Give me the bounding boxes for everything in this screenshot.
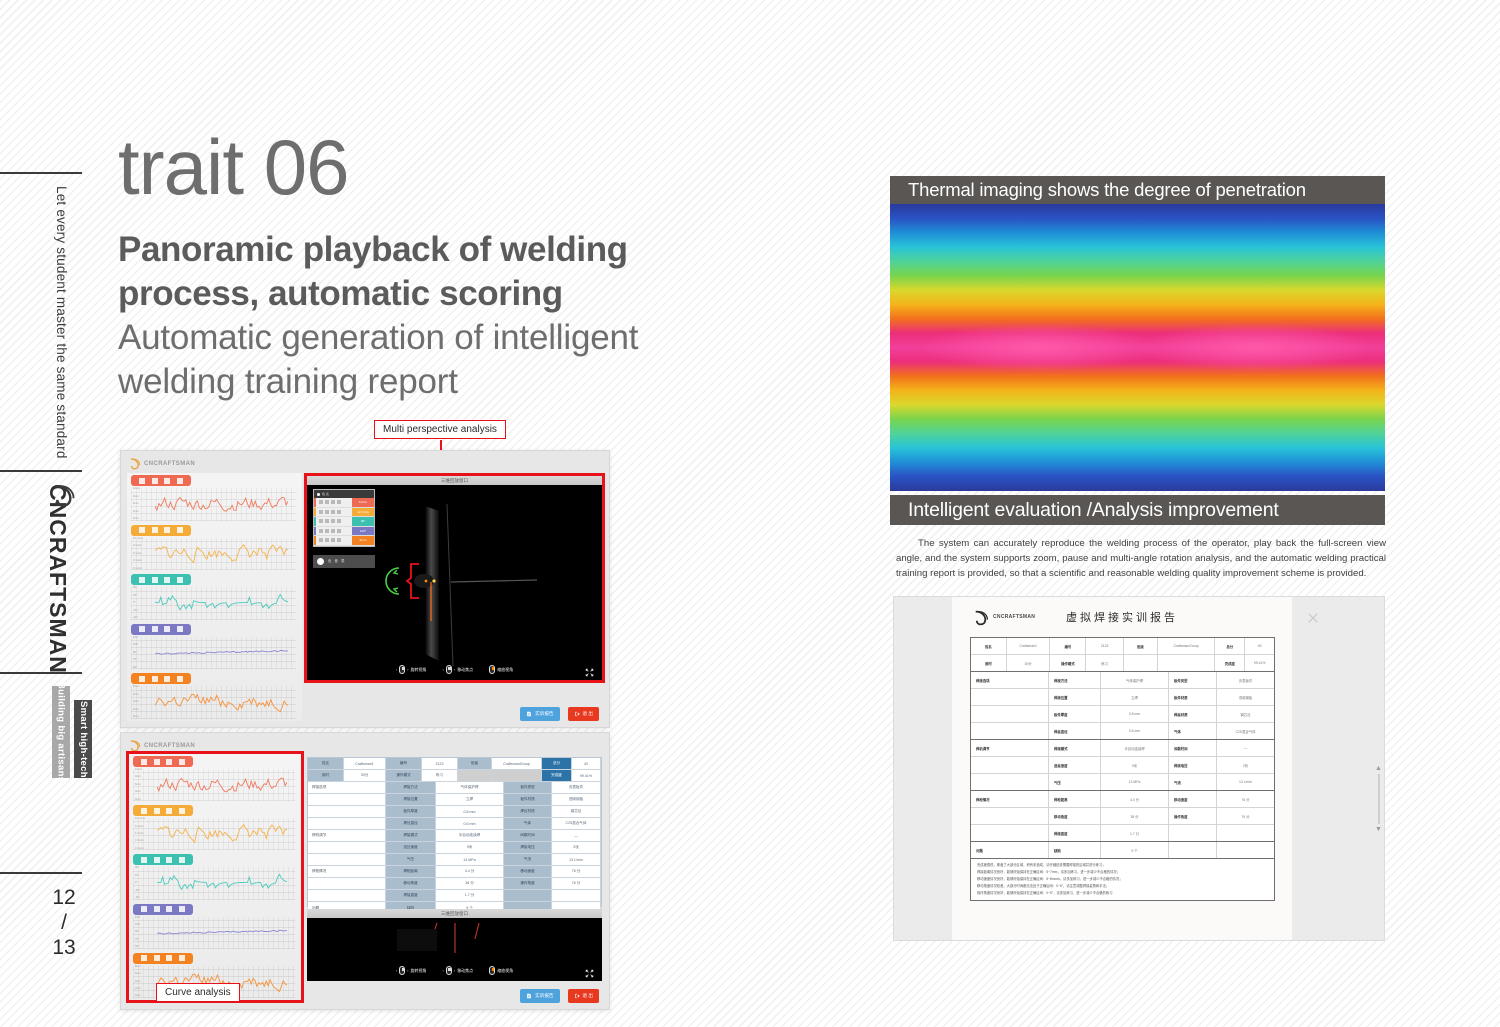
axis-tick-label: 15° <box>135 875 157 878</box>
thermal-section-title: Thermal imaging shows the degree of pene… <box>890 176 1385 204</box>
evaluation-section-title: Intelligent evaluation /Analysis improve… <box>890 495 1385 525</box>
report-cell: 焊接直度 <box>1049 825 1101 841</box>
table-header-cell: 班级 <box>458 758 492 769</box>
table-header-cell <box>504 890 552 901</box>
table-cell: 焊接选项 <box>308 782 386 793</box>
report-cell: 姓名 <box>971 638 1007 654</box>
tag-block-icon <box>152 527 158 533</box>
axis-tick-label: 3mm <box>133 511 155 514</box>
hint-right-arrow-icon: › <box>454 968 455 973</box>
tag-block-icon <box>166 906 172 912</box>
table-cell: 0.6 mm <box>436 818 504 829</box>
table-cell: Craftsman1 <box>344 758 386 769</box>
evaluation-paragraph: The system can accurately reproduce the … <box>896 537 1386 582</box>
axis-tick-label: 9 mm/s <box>133 545 155 548</box>
axis-tick-label: 75° <box>135 939 157 942</box>
exit-icon <box>574 711 580 717</box>
curve-line <box>155 538 288 569</box>
curve-panel-a[interactable]: 12mm9mm6mm3mm0mm12 mm/s9 mm/s6 mm/s3 mm/… <box>127 473 302 721</box>
tag-block-icon <box>141 857 147 863</box>
table-row: 焊枪情况焊枪距离4.4 分移动速度76 分 <box>308 866 601 878</box>
report-cell: 1.7 分 <box>1101 825 1169 841</box>
table-cell: 99.41% <box>572 770 601 781</box>
training-report-label: 实训报告 <box>535 711 553 717</box>
curve-group-tag <box>133 904 193 915</box>
table-header-cell: 板件厚度 <box>386 806 436 817</box>
report-row: 焊丝直径0.6 mm气体C25混合气体 <box>971 723 1274 740</box>
report-scrollbar[interactable]: ▲ ▼ <box>1375 765 1382 835</box>
mouse-icon <box>399 966 405 975</box>
curve-line <box>157 769 287 799</box>
report-cell: 40 <box>1245 638 1274 654</box>
brand-name: CNCRAFTSMAN <box>44 484 71 674</box>
curve-group-tag <box>131 525 191 536</box>
report-cell: 气流 <box>1169 774 1217 790</box>
table-row: 焊接选项焊接方法气体保护焊板件类型页表板件 <box>308 782 601 794</box>
axis-tick-label: 12 mm/s <box>135 818 157 821</box>
report-cell <box>971 689 1049 705</box>
table-cell <box>308 818 386 829</box>
report-cell: 2123 <box>1086 638 1124 654</box>
report-cell <box>1124 655 1158 671</box>
table-header-cell: 焊丝直径 <box>386 818 436 829</box>
axis-tick-label: 8mm <box>133 686 155 689</box>
curve-plot[interactable]: 30°15°0°-15°-30° <box>131 587 296 620</box>
tag-block-icon <box>141 955 147 961</box>
curve-group-tag <box>133 953 193 964</box>
axis-tick-label: 90° <box>133 652 155 655</box>
hint-right-arrow-icon: › <box>407 667 408 672</box>
tag-block-icon <box>152 577 158 583</box>
table-header-cell: 移动角度 <box>386 878 436 889</box>
report-cell: 焊接电压 <box>1169 757 1217 773</box>
viewer-hint: ‹›移动焦点 <box>443 665 474 674</box>
report-cell: 低碳钢板 <box>1217 689 1274 705</box>
tag-block-icon <box>164 676 170 682</box>
tag-block-icon <box>152 676 158 682</box>
exit-button[interactable]: 退 出 <box>568 707 599 721</box>
report-page: CNCRAFTSMAN 虚拟焊接实训报告 姓名Craftsman1编号2123班… <box>952 597 1292 941</box>
report-cell <box>1169 842 1217 858</box>
table-cell: C25混合气体 <box>552 818 601 829</box>
curve-axis-labels: 120°105°90°75°60° <box>133 637 155 670</box>
table-row: 焊机调节焊接模式半自动连续焊间歇时间— <box>308 830 601 842</box>
hint-label: 缩放视角 <box>497 968 513 974</box>
tag-block-icon <box>179 955 185 961</box>
tag-block-icon <box>154 808 160 814</box>
table-cell: 38 分 <box>436 878 504 889</box>
report-cell: 移动速度 <box>1169 791 1217 807</box>
report-cell: 完成度 <box>1215 655 1245 671</box>
report-cell: 问题 <box>971 842 1049 858</box>
curve-group[interactable]: 12mm9mm6mm3mm0mm <box>133 756 295 801</box>
curve-axis-labels: 120°105°90°75°60° <box>135 917 157 949</box>
tag-block-icon <box>164 478 170 484</box>
axis-tick-label: 2mm <box>135 988 157 991</box>
table-header-cell: 操作模式 <box>386 770 422 781</box>
report-notes: 完成度很低，覆盖了大部分区域，积有未造成，请仔细检查需要焊接的区域并进行练习；焊… <box>971 859 1274 900</box>
report-cell: 焊枪距离 <box>1049 791 1101 807</box>
table-cell: 0.8 mm <box>436 806 504 817</box>
table-cell: 气体保护焊 <box>436 782 504 793</box>
left-rail: Let every student master the same standa… <box>0 0 104 1027</box>
rail-divider-1 <box>0 172 82 174</box>
report-cell <box>1217 842 1274 858</box>
tag-block-icon <box>166 857 172 863</box>
tag-block-icon <box>164 577 170 583</box>
table-cell: 76 分 <box>552 866 601 877</box>
report-cell: 气体 <box>1169 723 1217 739</box>
hint-label: 移动焦点 <box>457 968 473 974</box>
table-row: 板件厚度0.8 mm焊丝材质钢芯丝 <box>308 806 601 818</box>
app-screenshot-playback[interactable]: CNCRAFTSMAN 12mm9mm6mm3mm0mm12 mm/s9 mm/… <box>120 450 610 728</box>
table-cell <box>308 842 386 853</box>
axis-tick-label: 12mm <box>135 769 157 772</box>
report-cell: 9米 <box>1101 757 1169 773</box>
report-cell: 编号 <box>1050 638 1086 654</box>
table-header-cell: 送丝速度 <box>386 842 436 853</box>
callout-curve-analysis: Curve analysis <box>156 983 240 1002</box>
report-cell <box>971 757 1049 773</box>
report-cell: 间歇时间 <box>1169 740 1217 756</box>
hint-left-arrow-icon: ‹ <box>396 968 397 973</box>
rail-divider-2 <box>0 470 82 472</box>
table-cell: 焊枪情况 <box>308 866 386 877</box>
report-cell: 0.6 mm <box>1101 723 1169 739</box>
curve-plot[interactable]: 12mm9mm6mm3mm0mm <box>131 488 296 521</box>
scroll-down-icon[interactable]: ▼ <box>1375 826 1382 833</box>
report-cell: 13 L/min <box>1217 774 1274 790</box>
curve-axis-labels: 8mm6mm4mm2mm0mm <box>135 966 157 998</box>
report-title: 虚拟焊接实训报告 <box>952 609 1292 625</box>
curve-plot[interactable]: 30°15°0°-15°-30° <box>133 867 295 899</box>
report-cell: 班级 <box>1124 638 1158 654</box>
curve-axis-labels: 30°15°0°-15°-30° <box>135 867 157 899</box>
axis-tick-label: 30° <box>133 587 155 590</box>
axis-tick-label: 9mm <box>135 776 157 779</box>
report-screenshot[interactable]: CNCRAFTSMAN 虚拟焊接实训报告 姓名Craftsman1编号2123班… <box>893 596 1385 941</box>
hint-label: 旋转视角 <box>411 968 427 974</box>
thermal-image <box>890 204 1385 491</box>
axis-tick-label: 6mm <box>133 503 155 506</box>
table-cell: 30分 <box>344 770 386 781</box>
hint-left-arrow-icon: ‹ <box>443 968 444 973</box>
table-header-cell: 间歇时间 <box>504 830 552 841</box>
scroll-track[interactable] <box>1378 774 1380 824</box>
report-row: 焊机调节焊接模式半自动连续焊间歇时间— <box>971 740 1274 757</box>
curve-group[interactable]: 12 mm/s9 mm/s6 mm/s3 mm/s0 mm/s <box>133 805 295 850</box>
fullscreen-icon-b[interactable] <box>585 965 594 974</box>
report-row: 送丝速度9米焊接电压2伏 <box>971 757 1274 774</box>
axis-tick-label: 2mm <box>133 709 155 712</box>
table-cell: 页表板件 <box>552 782 601 793</box>
app-logo-text-b: CNCRAFTSMAN <box>144 743 195 749</box>
scroll-up-icon[interactable]: ▲ <box>1375 765 1382 772</box>
tag-block-icon <box>164 527 170 533</box>
report-cell <box>971 825 1049 841</box>
report-row: 姓名Craftsman1编号2123班级CraftsmanGroup总分40 <box>971 638 1274 655</box>
table-row: 焊接直度1.7 分 <box>308 890 601 902</box>
curve-group[interactable]: 8mm6mm4mm2mm0mm <box>131 673 296 719</box>
table-cell <box>308 854 386 865</box>
training-report-label-b: 实训报告 <box>535 993 553 999</box>
axis-tick-label: 105° <box>135 924 157 927</box>
report-cell: 缺陷 <box>1049 842 1101 858</box>
axis-tick-label: 9 mm/s <box>135 826 157 829</box>
page-separator: / <box>44 911 84 936</box>
report-cell: 焊接方法 <box>1049 672 1101 688</box>
curve-group-tag <box>133 854 193 865</box>
axis-tick-label: 60° <box>135 946 157 949</box>
exit-button-b[interactable]: 退 出 <box>568 989 599 1003</box>
axis-tick-label: 0mm <box>135 799 157 802</box>
report-row: 焊接选项焊接方法气体保护焊板件类型页表板件 <box>971 672 1274 689</box>
axis-tick-label: 3 mm/s <box>135 840 157 843</box>
report-cell: 板件厚度 <box>1049 706 1101 722</box>
hint-left-arrow-icon: ‹ <box>443 667 444 672</box>
report-row: 问题缺陷9 个 <box>971 842 1274 859</box>
report-cell: — <box>1217 740 1274 756</box>
cncraftsman-logo-icon <box>50 482 76 508</box>
curve-plot[interactable]: 8mm6mm4mm2mm0mm <box>131 686 296 719</box>
table-cell <box>308 806 386 817</box>
rail-badges: Building big artisans Smart high-tech <box>52 686 92 783</box>
tag-block-icon <box>179 808 185 814</box>
axis-tick-label: 0° <box>135 882 157 885</box>
report-cell: 99.41% <box>1245 655 1274 671</box>
app-logo-text: CNCRAFTSMAN <box>144 461 195 467</box>
report-cell: 钢芯丝 <box>1217 706 1274 722</box>
report-cell: 2伏 <box>1217 757 1274 773</box>
axis-tick-label: 9mm <box>133 496 155 499</box>
table-cell: 13 MPa <box>436 854 504 865</box>
fullscreen-icon[interactable] <box>585 664 594 673</box>
curve-group[interactable]: 120°105°90°75°60° <box>131 624 296 670</box>
table-row: 焊丝直径0.6 mm气体C25混合气体 <box>308 818 601 830</box>
report-cell: 焊丝直径 <box>1049 723 1101 739</box>
tag-block-icon <box>166 808 172 814</box>
table-cell <box>458 770 492 781</box>
badge-smart-high-tech: Smart high-tech <box>74 700 92 778</box>
table-cell <box>552 890 601 901</box>
report-cell: 立焊 <box>1101 689 1169 705</box>
curve-group[interactable]: 120°105°90°75°60° <box>133 904 295 949</box>
table-cell <box>308 890 386 901</box>
viewer-3d-playback[interactable]: 三维回放窗口 色 表 12mm12 mm/s30°120°8mm 色 差 表 <box>307 476 602 680</box>
table-header-cell: 气压 <box>386 854 436 865</box>
curve-plot[interactable]: 120°105°90°75°60° <box>133 917 295 949</box>
report-row: 焊枪情况焊枪距离4.4 分移动速度76 分 <box>971 791 1274 808</box>
table-cell: 40 <box>572 758 601 769</box>
hint-right-arrow-icon: › <box>454 667 455 672</box>
report-cell: 板件类型 <box>1169 672 1217 688</box>
report-cell: 板件材质 <box>1169 689 1217 705</box>
table-header-cell: 焊接模式 <box>386 830 436 841</box>
table-row: 焊接位置立焊板件材质低碳钢板 <box>308 794 601 806</box>
axis-tick-label: 0 mm/s <box>133 568 155 571</box>
mouse-icon <box>446 966 452 975</box>
axis-tick-label: 30° <box>135 867 157 870</box>
curve-group[interactable]: 12 mm/s9 mm/s6 mm/s3 mm/s0 mm/s <box>131 525 296 571</box>
table-cell: 钢芯丝 <box>552 806 601 817</box>
report-note-line: 移动角度情况较差，大部分时间都无法处于正确区间：0~5°，请注意调整焊接姿势和手… <box>977 883 1268 890</box>
tag-block-icon <box>177 626 183 632</box>
table-cell: 焊机调节 <box>308 830 386 841</box>
report-cell: 总分 <box>1215 638 1245 654</box>
axis-tick-label: 105° <box>133 644 155 647</box>
table-header-cell: 板件材质 <box>504 794 552 805</box>
hint-label: 旋转视角 <box>411 667 427 673</box>
curve-line <box>155 587 288 618</box>
viewer-hint: 缩放视角 <box>489 665 513 674</box>
axis-tick-label: 6mm <box>135 973 157 976</box>
app-logo: CNCRAFTSMAN <box>128 457 195 470</box>
report-row: 气压13 MPa气流13 L/min <box>971 774 1274 791</box>
tag-block-icon <box>139 676 145 682</box>
table-header-cell: 气流 <box>504 854 552 865</box>
tag-block-icon <box>164 626 170 632</box>
close-icon[interactable] <box>1306 611 1320 625</box>
cncraftsman-mark-icon <box>128 457 141 470</box>
report-cell: 操作模式 <box>1050 655 1086 671</box>
rail-tagline: Let every student master the same standa… <box>54 186 69 459</box>
report-cell <box>1169 825 1217 841</box>
report-icon-b <box>526 993 532 999</box>
axis-tick-label: 90° <box>135 931 157 934</box>
tag-block-icon <box>154 857 160 863</box>
report-detail-table: 姓名Craftsman1编号2123班级CraftsmanGroup总分40用时… <box>970 637 1275 901</box>
axis-tick-label: 15° <box>133 595 155 598</box>
curve-group-tag <box>131 673 191 684</box>
curve-axis-labels: 30°15°0°-15°-30° <box>133 587 155 620</box>
curve-plot[interactable]: 12 mm/s9 mm/s6 mm/s3 mm/s0 mm/s <box>133 818 295 850</box>
table-cell: 13 L/min <box>552 854 601 865</box>
tag-block-icon <box>179 759 185 765</box>
curve-plot[interactable]: 120°105°90°75°60° <box>131 637 296 670</box>
axis-tick-label: 12 mm/s <box>133 538 155 541</box>
table-cell <box>308 794 386 805</box>
table-header-cell: 焊接电压 <box>504 842 552 853</box>
hint-label: 移动焦点 <box>457 667 473 673</box>
report-cell: 半自动连续焊 <box>1101 740 1169 756</box>
table-header-cell: 焊枪距离 <box>386 866 436 877</box>
report-cell: 焊接模式 <box>1049 740 1101 756</box>
report-cell: CraftsmanGroup <box>1158 638 1216 654</box>
curve-group-tag <box>131 574 191 585</box>
table-cell: 9米 <box>436 842 504 853</box>
axis-tick-label: -15° <box>133 610 155 613</box>
axis-tick-label: -30° <box>135 897 157 900</box>
report-cell: 焊接选项 <box>971 672 1049 688</box>
table-cell <box>492 770 542 781</box>
training-report-button[interactable]: 实训报告 <box>520 707 559 721</box>
curve-axis-labels: 8mm6mm4mm2mm0mm <box>133 686 155 719</box>
viewer-3d-strip[interactable]: 三维回放窗口 ‹›旋转视角‹›移动焦点缩放视角 <box>307 909 602 981</box>
axis-tick-label: -15° <box>135 890 157 893</box>
table-header-cell: 板件类型 <box>504 782 552 793</box>
report-cell <box>971 808 1049 824</box>
mouse-icon <box>489 665 495 674</box>
curve-group[interactable]: 30°15°0°-15°-30° <box>133 854 295 899</box>
table-cell: CraftsmanGroup <box>492 758 542 769</box>
curve-plot[interactable]: 12 mm/s9 mm/s6 mm/s3 mm/s0 mm/s <box>131 538 296 571</box>
report-note-line: 操作角度情况良好，能够好始保持在正确区间：0~5°，请多加练习，进一步减少不合格… <box>977 890 1268 897</box>
tag-block-icon <box>154 906 160 912</box>
report-cell <box>1217 825 1274 841</box>
report-note-line: 焊接距离情况良好，能够好始保持在正确区间：5~7mm，请多加练习，进一步减少不合… <box>977 869 1268 876</box>
report-row: 移动角度38 分操作角度76 分 <box>971 808 1274 825</box>
axis-tick-label: 8mm <box>135 966 157 969</box>
report-cell: 9 个 <box>1101 842 1169 858</box>
curve-group-tag <box>133 805 193 816</box>
curve-line <box>157 818 287 848</box>
table-header-cell: 气体 <box>504 818 552 829</box>
curve-group[interactable]: 30°15°0°-15°-30° <box>131 574 296 620</box>
tag-block-icon <box>166 955 172 961</box>
axis-tick-label: 120° <box>135 917 157 920</box>
axis-tick-label: 12mm <box>133 488 155 491</box>
report-note-line: 移动速度情况良好，能够好始保持在正确区间：5~8mm/s，请多加练习，进一步减少… <box>977 876 1268 883</box>
table-row: 气压13 MPa气流13 L/min <box>308 854 601 866</box>
axis-tick-label: 60° <box>133 667 155 670</box>
action-buttons-a: 实训报告 退 出 <box>520 707 599 721</box>
table-header-cell: 姓名 <box>308 758 344 769</box>
heading-light: Automatic generation of intelligent weld… <box>118 316 758 405</box>
tag-block-icon <box>139 527 145 533</box>
tag-block-icon <box>152 626 158 632</box>
mouse-icon <box>446 665 452 674</box>
tag-block-icon <box>177 478 183 484</box>
axis-tick-label: 0 mm/s <box>135 848 157 851</box>
axis-tick-label: 4mm <box>135 981 157 984</box>
report-table[interactable]: 姓名Craftsman1编号2123班级CraftsmanGroup总分40用时… <box>307 757 602 907</box>
report-cell: 4.4 分 <box>1101 791 1169 807</box>
hint-left-arrow-icon: ‹ <box>396 667 397 672</box>
tag-block-icon <box>141 759 147 765</box>
tag-block-icon <box>141 906 147 912</box>
tag-block-icon <box>139 478 145 484</box>
table-cell: 2123 <box>422 758 458 769</box>
app-screenshot-report[interactable]: CNCRAFTSMAN 12mm9mm6mm3mm0mm12 mm/s9 mm/… <box>120 732 610 1010</box>
weld-scene-graphic <box>307 476 602 680</box>
tag-block-icon <box>139 626 145 632</box>
axis-tick-label: 0mm <box>133 518 155 521</box>
report-cell: 焊丝材质 <box>1169 706 1217 722</box>
report-cell: 页表板件 <box>1217 672 1274 688</box>
training-report-button-b[interactable]: 实训报告 <box>520 989 559 1003</box>
report-cell <box>971 774 1049 790</box>
axis-tick-label: 3 mm/s <box>133 560 155 563</box>
curve-group[interactable]: 12mm9mm6mm3mm0mm <box>131 475 296 521</box>
heading-kicker: trait 06 <box>118 128 348 206</box>
table-cell: 完成度 <box>542 770 572 781</box>
report-cell: 气压 <box>1049 774 1101 790</box>
curve-line <box>157 917 287 947</box>
curve-plot[interactable]: 12mm9mm6mm3mm0mm <box>133 769 295 801</box>
curve-group-tag <box>131 475 191 486</box>
table-row: 用时30分操作模式练习完成度99.41% <box>308 770 601 782</box>
curve-axis-labels: 12mm9mm6mm3mm0mm <box>133 488 155 521</box>
table-cell: 4.4 分 <box>436 866 504 877</box>
table-header-cell: 用时 <box>308 770 344 781</box>
report-cell: 送丝速度 <box>1049 757 1101 773</box>
curve-panel-b[interactable]: 12mm9mm6mm3mm0mm12 mm/s9 mm/s6 mm/s3 mm/… <box>129 754 301 1000</box>
table-header-cell: 焊接位置 <box>386 794 436 805</box>
tag-block-icon <box>152 478 158 484</box>
mouse-icon <box>399 665 405 674</box>
report-cell: 练习 <box>1086 655 1124 671</box>
badge-building-big-artisans: Building big artisans <box>52 686 70 778</box>
